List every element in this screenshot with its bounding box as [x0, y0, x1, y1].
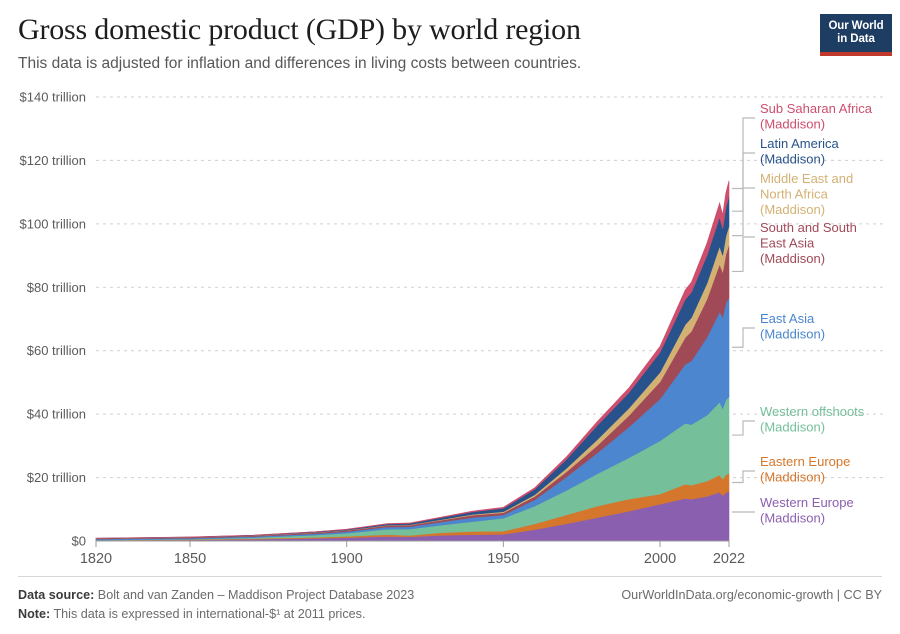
- legend-item-label: East Asia: [760, 311, 815, 326]
- legend-item-7[interactable]: Sub Saharan Africa(Maddison): [760, 101, 873, 132]
- chart-footer: Data source: Bolt and van Zanden – Maddi…: [18, 576, 882, 634]
- footer-source-row: Data source: Bolt and van Zanden – Maddi…: [18, 586, 882, 605]
- y-axis-tick-label: $20 trillion: [27, 470, 86, 485]
- owid-logo[interactable]: Our World in Data: [820, 14, 892, 56]
- legend-item-label: Middle East and: [760, 171, 853, 186]
- chart-header: Gross domestic product (GDP) by world re…: [18, 12, 882, 80]
- legend-connector: [732, 237, 755, 271]
- legend-item-label: Eastern Europe: [760, 454, 850, 469]
- legend-connector: [732, 188, 755, 236]
- owid-logo-line1: Our World: [828, 20, 883, 33]
- legend-connector: [732, 471, 755, 482]
- footer-source-label: Data source:: [18, 588, 94, 602]
- owid-logo-line2: in Data: [837, 33, 875, 46]
- x-axis-tick-label: 1850: [174, 551, 206, 564]
- y-axis-tick-label: $100 trillion: [20, 216, 87, 231]
- legend-item-label: (Maddison): [760, 511, 825, 526]
- legend-item-label: (Maddison): [760, 420, 825, 435]
- legend-item-1[interactable]: Eastern Europe(Maddison): [760, 454, 850, 485]
- legend-item-2[interactable]: Western offshoots(Maddison): [760, 404, 865, 435]
- x-axis-tick-label: 1950: [487, 551, 519, 564]
- legend-item-label: North Africa: [760, 187, 829, 202]
- x-axis-tick-label: 1820: [80, 551, 112, 564]
- footer-note-label: Note:: [18, 607, 50, 621]
- legend-item-label: Western offshoots: [760, 404, 865, 419]
- legend-item-4[interactable]: South and SouthEast Asia(Maddison): [760, 220, 857, 266]
- x-axis-tick-label: 2000: [644, 551, 676, 564]
- y-axis-tick-label: $40 trillion: [27, 407, 86, 422]
- legend-item-label: Western Europe: [760, 495, 854, 510]
- page-subtitle: This data is adjusted for inflation and …: [18, 54, 882, 74]
- legend-item-label: (Maddison): [760, 202, 825, 217]
- legend-item-label: Latin America: [760, 136, 840, 151]
- y-axis-tick-label: $140 trillion: [20, 90, 87, 105]
- x-axis-tick-label: 1900: [331, 551, 363, 564]
- legend-item-label: (Maddison): [760, 152, 825, 167]
- legend-item-label: (Maddison): [760, 251, 825, 266]
- footer-attribution[interactable]: OurWorldInData.org/economic-growth | CC …: [621, 586, 882, 605]
- legend-item-label: South and South: [760, 220, 857, 235]
- legend-item-label: East Asia: [760, 236, 815, 251]
- legend-item-label: Sub Saharan Africa: [760, 101, 873, 116]
- legend-item-label: (Maddison): [760, 327, 825, 342]
- legend-connector: [732, 421, 755, 435]
- x-axis-tick-label: 2022: [713, 551, 745, 564]
- legend-item-5[interactable]: Middle East andNorth Africa(Maddison): [760, 171, 853, 217]
- y-axis-tick-label: $60 trillion: [27, 343, 86, 358]
- stacked-area-chart[interactable]: $0$20 trillion$40 trillion$60 trillion$8…: [0, 84, 900, 564]
- legend-item-3[interactable]: East Asia(Maddison): [760, 311, 825, 342]
- legend-item-label: (Maddison): [760, 470, 825, 485]
- y-axis-tick-label: $80 trillion: [27, 280, 86, 295]
- footer-source-text: Bolt and van Zanden – Maddison Project D…: [98, 588, 414, 602]
- page-title: Gross domestic product (GDP) by world re…: [18, 12, 882, 48]
- legend-connector: [732, 328, 755, 347]
- legend-item-0[interactable]: Western Europe(Maddison): [760, 495, 854, 526]
- chart-page: Gross domestic product (GDP) by world re…: [0, 0, 900, 633]
- legend-item-6[interactable]: Latin America(Maddison): [760, 136, 840, 167]
- y-axis-tick-label: $0: [72, 534, 86, 549]
- y-axis-tick-label: $120 trillion: [20, 153, 87, 168]
- footer-note-row: Note: This data is expressed in internat…: [18, 605, 882, 624]
- legend-item-label: (Maddison): [760, 117, 825, 132]
- chart-area[interactable]: $0$20 trillion$40 trillion$60 trillion$8…: [0, 84, 900, 564]
- footer-note-text: This data is expressed in international-…: [53, 607, 365, 621]
